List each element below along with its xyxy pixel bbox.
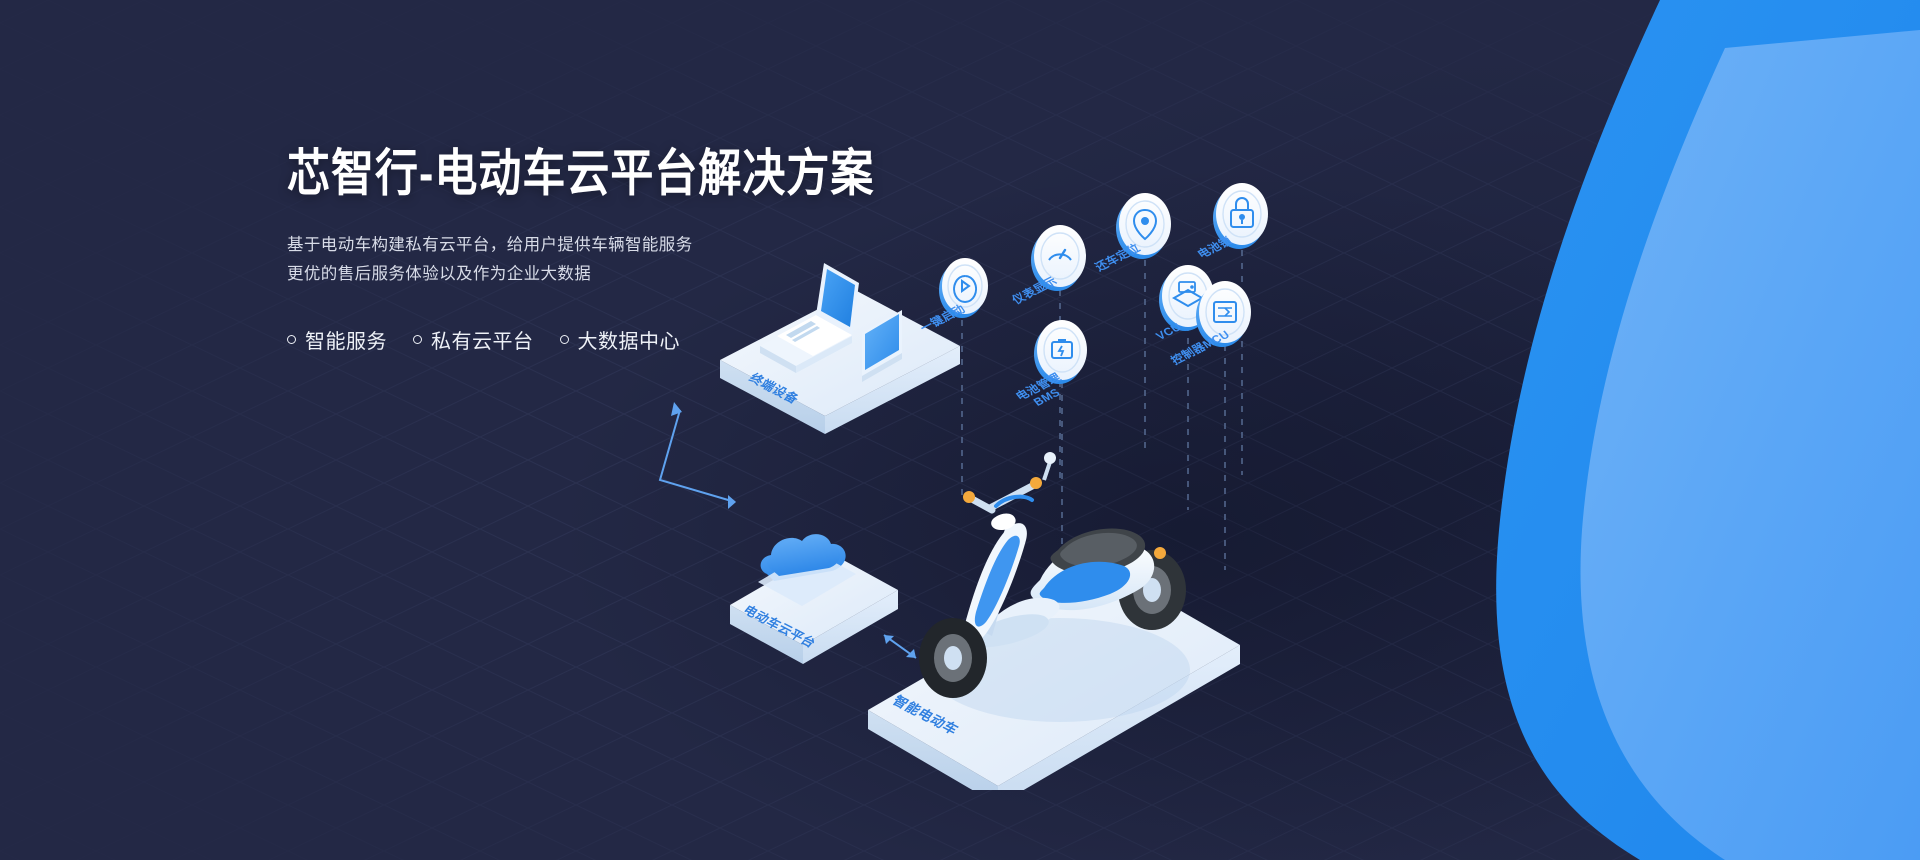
hero-banner: 芯智行-电动车云平台解决方案 基于电动车构建私有云平台，给用户提供车辆智能服务 … xyxy=(0,0,1920,860)
circle-bullet-icon xyxy=(413,335,422,344)
hero-tag-smart-service[interactable]: 智能服务 xyxy=(287,325,387,354)
circle-bullet-icon xyxy=(287,335,296,344)
isometric-illustration: 终端设备 电动车云平台 智能电动车 一键启动 仪表显示 电池管理 BMS 还车定… xyxy=(640,150,1400,790)
illustration-canvas xyxy=(640,150,1400,790)
arrow-up-right-icon xyxy=(660,402,736,509)
hero-tag-private-cloud[interactable]: 私有云平台 xyxy=(413,325,534,354)
double-arrow-icon xyxy=(884,635,916,658)
hero-tag-label: 私有云平台 xyxy=(431,325,534,354)
circle-bullet-icon xyxy=(560,335,569,344)
electric-scooter-icon xyxy=(919,452,1190,722)
hero-tag-label: 智能服务 xyxy=(305,325,387,354)
node-bms[interactable] xyxy=(1034,320,1087,384)
